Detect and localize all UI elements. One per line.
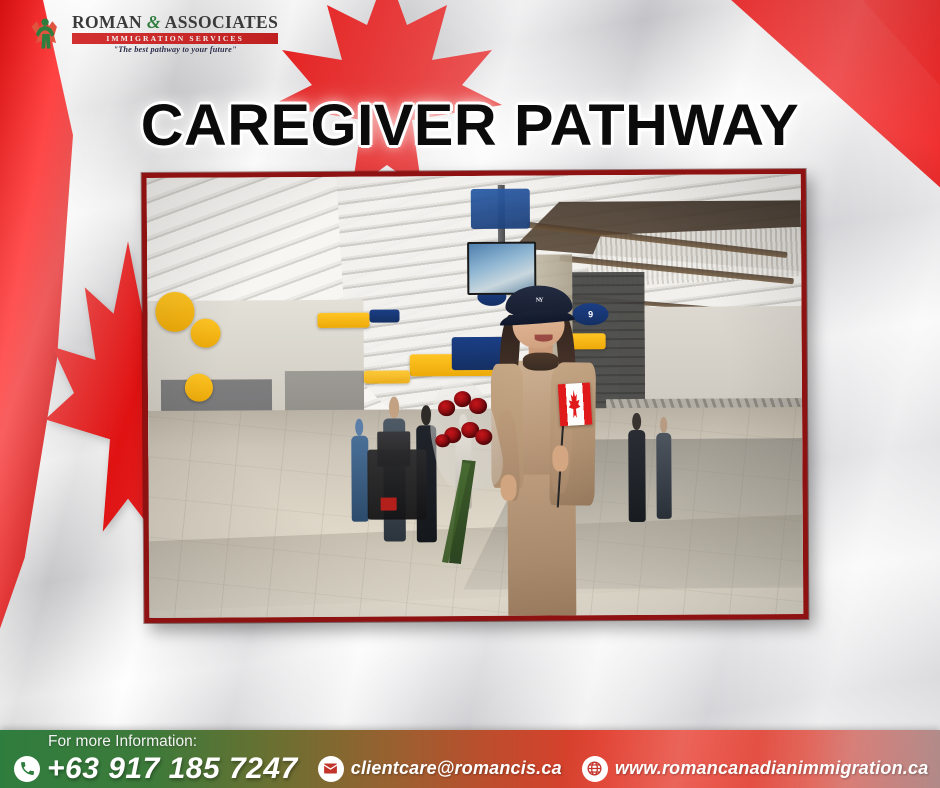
poster-canvas: ROMAN & ASSOCIATES IMMIGRATION SERVICES …	[0, 0, 940, 788]
restroom-sign-icon	[155, 292, 194, 332]
footer-contact-row: +63 917 185 7247 clientcare@romancis.ca	[14, 752, 940, 786]
envelope-icon	[318, 756, 344, 782]
rose	[469, 398, 486, 414]
luggage-cart	[367, 449, 426, 520]
footer-website-url[interactable]: www.romancanadianimmigration.ca	[615, 758, 929, 779]
maple-leaf-icon-small	[568, 388, 583, 421]
globe-icon	[582, 756, 608, 782]
footer-intro-label: For more Information:	[48, 733, 940, 751]
directional-sign-blue	[370, 309, 400, 322]
footer-email-address[interactable]: clientcare@romancis.ca	[351, 758, 562, 779]
logo-ampersand: &	[147, 12, 161, 32]
background-traveler	[628, 413, 645, 479]
logo-company-name: ROMAN & ASSOCIATES	[72, 14, 278, 32]
rose	[475, 429, 492, 445]
phone-icon	[14, 756, 40, 782]
featured-person	[468, 285, 614, 611]
logo-maple-person-icon	[26, 12, 66, 56]
monitor-backplate	[470, 189, 529, 229]
rose	[438, 400, 455, 416]
logo-text-block: ROMAN & ASSOCIATES IMMIGRATION SERVICES …	[72, 14, 278, 54]
photo-frame	[142, 169, 809, 623]
wayfinding-sign-yellow	[364, 370, 410, 383]
logo-subtitle: IMMIGRATION SERVICES	[72, 33, 278, 44]
contact-footer: For more Information: +63 917 185 7247 c…	[0, 730, 940, 788]
company-logo[interactable]: ROMAN & ASSOCIATES IMMIGRATION SERVICES …	[26, 8, 236, 60]
rose	[435, 434, 450, 447]
canadian-flag-icon-handheld	[558, 382, 592, 426]
background-traveler	[351, 419, 368, 481]
page-title: CAREGIVER PATHWAY	[0, 92, 940, 159]
airport-photo	[147, 174, 804, 618]
right-hand	[552, 445, 568, 471]
luggage-tag	[381, 498, 397, 511]
background-traveler	[656, 417, 672, 479]
turtleneck-collar	[523, 352, 559, 370]
footer-phone-number[interactable]: +63 917 185 7247	[47, 752, 298, 786]
left-hand	[501, 475, 517, 501]
rose-bouquet	[431, 380, 498, 491]
wayfinding-sign-yellow	[318, 313, 370, 328]
info-sign-icon	[190, 318, 220, 347]
logo-tagline: "The best pathway to your future"	[72, 46, 278, 54]
